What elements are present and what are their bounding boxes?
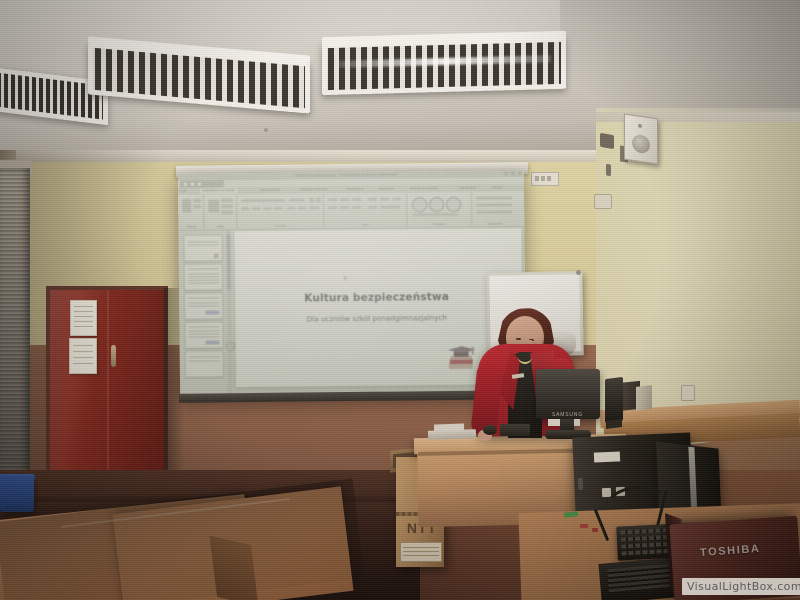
undo-icon[interactable] xyxy=(191,183,194,186)
speaker-cone xyxy=(632,134,650,155)
door-handle[interactable] xyxy=(111,345,116,367)
close-icon[interactable] xyxy=(518,171,522,175)
ceiling-light-right xyxy=(322,37,566,95)
tab-narzedzia-glowne[interactable]: NARZĘDZIA GŁÓWNE xyxy=(200,188,237,193)
wall-hook xyxy=(606,164,611,177)
box-shipping-label xyxy=(400,542,442,562)
lamp-frame xyxy=(322,37,566,95)
tab-przejscia[interactable]: PRZEJŚCIA xyxy=(346,187,363,192)
save-icon[interactable] xyxy=(184,183,187,186)
ribbon-group-label: Schowek xyxy=(179,226,203,229)
desk-item-red-2 xyxy=(592,528,598,532)
slide-thumbnail-panel[interactable] xyxy=(179,230,227,396)
tab-plik[interactable]: PLIK xyxy=(180,189,187,194)
waste-bin xyxy=(0,478,34,512)
second-monitor xyxy=(605,377,623,423)
desk-keyboard[interactable] xyxy=(428,429,476,440)
slide-title: Kultura bezpieczeństwa xyxy=(235,291,518,306)
ribbon-group-label: Edytowanie xyxy=(472,222,518,225)
pc-power-button[interactable] xyxy=(578,478,584,490)
wall-outlet-right xyxy=(681,385,695,401)
ceiling-fixture-dot xyxy=(264,128,268,132)
tab-projektowanie[interactable]: PROJEKTOWANIE xyxy=(300,187,327,192)
door-notice-upper xyxy=(70,300,97,336)
desk-item-red xyxy=(580,524,588,528)
papers-stack xyxy=(636,385,652,411)
tab-wstawianie[interactable]: WSTAWIANIE xyxy=(260,188,280,193)
ribbon-group-czcionka[interactable]: Czcionka xyxy=(237,194,324,228)
tab-widok[interactable]: WIDOK xyxy=(492,185,503,190)
pc-asset-sticker xyxy=(594,451,620,462)
watermark: VisualLightBox.com xyxy=(682,578,800,595)
ribbon-group-slajdy[interactable]: Slajdy xyxy=(204,195,237,228)
mouse-cursor-icon xyxy=(344,275,348,281)
wall-socket xyxy=(600,133,614,149)
whiteboard-mount xyxy=(576,270,581,275)
redo-icon[interactable] xyxy=(198,183,201,186)
slide-thumbnail[interactable] xyxy=(185,350,224,377)
slide-thumbnail[interactable] xyxy=(183,234,222,261)
ribbon-group-label: Czcionka xyxy=(237,224,323,228)
monitor-brand-label: SAMSUNG xyxy=(552,412,583,418)
door-notice-lower xyxy=(69,338,97,374)
panel-collapse-icon[interactable] xyxy=(226,341,236,351)
minimize-icon[interactable] xyxy=(504,171,508,175)
wall-outlet-mid xyxy=(594,194,612,209)
ribbon: Schowek Slajdy xyxy=(178,191,524,231)
blind-shading xyxy=(0,168,30,488)
ribbon-group-schowek[interactable]: Schowek xyxy=(179,196,204,229)
slide-thumbnail[interactable] xyxy=(184,321,223,348)
door-seam xyxy=(107,290,109,494)
ribbon-group-label: Rysowanie xyxy=(407,223,471,227)
ribbon-group-label: Akapit xyxy=(324,223,406,227)
slide-thumbnail[interactable] xyxy=(184,292,223,319)
powerpoint-title-text: Kultura bezpieczenstwa - Prezentacja pro… xyxy=(295,172,397,177)
ribbon-group-akapit[interactable]: Akapit xyxy=(324,193,407,227)
tab-animacje[interactable]: ANIMACJE xyxy=(378,187,394,192)
wall-sign xyxy=(531,172,559,186)
wall-speaker xyxy=(624,114,658,165)
desk-equipment xyxy=(500,424,530,436)
maximize-icon[interactable] xyxy=(511,171,515,175)
ribbon-group-label: Slajdy xyxy=(204,225,236,228)
desk-mouse[interactable] xyxy=(483,425,497,435)
classroom-photo: Kultura bezpieczenstwa - Prezentacja pro… xyxy=(0,0,800,600)
thumbnail-scrollbar[interactable] xyxy=(226,230,232,396)
ribbon-group-rysowanie[interactable]: Rysowanie xyxy=(407,193,472,227)
speaker-led xyxy=(638,124,642,129)
tab-pokaz-slajdow[interactable]: POKAZ SLAJDÓW xyxy=(410,186,437,191)
tab-recenzja[interactable]: RECENZJA xyxy=(460,186,477,191)
ribbon-group-edytowanie[interactable]: Edytowanie xyxy=(472,192,518,225)
slide-thumbnail[interactable] xyxy=(184,263,223,290)
